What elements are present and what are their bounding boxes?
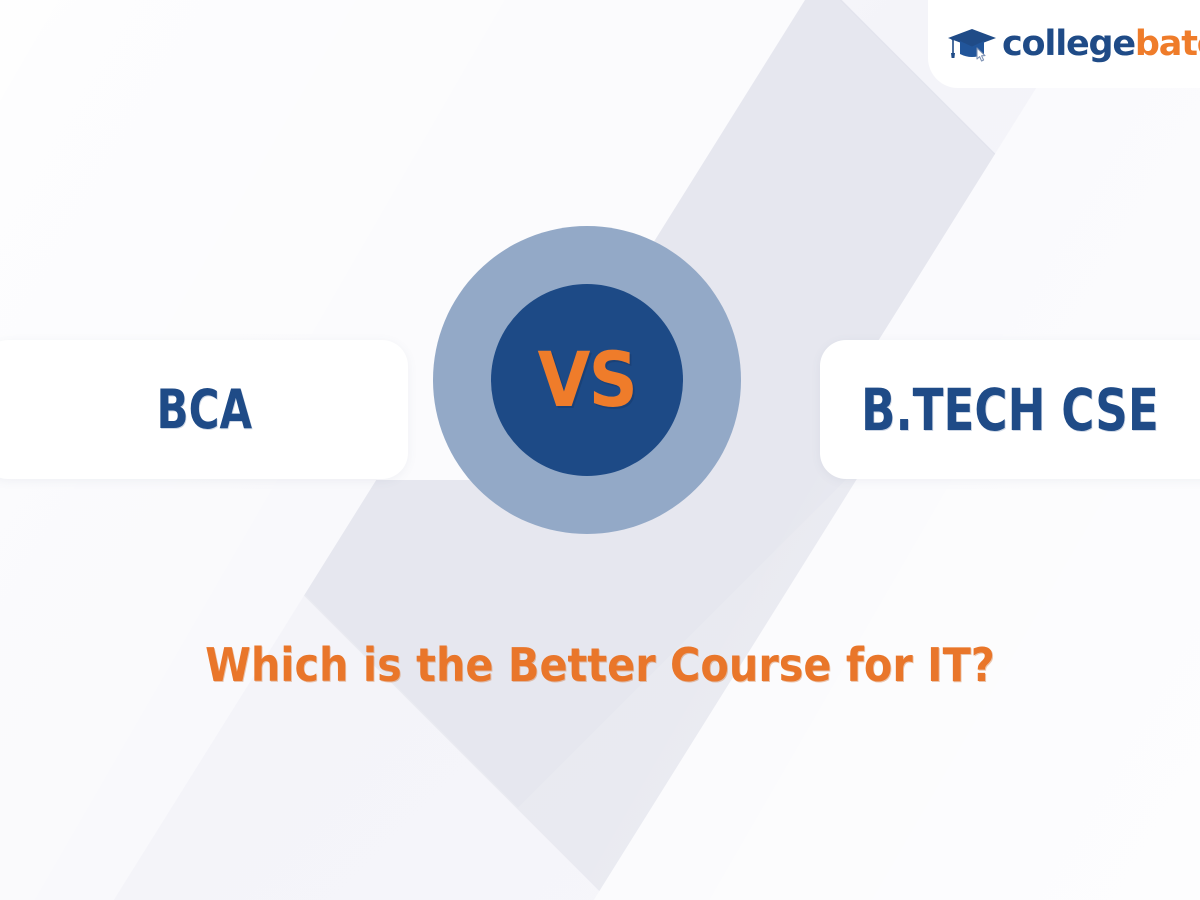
comparison-banner: collegebatc BCA VS B.TECH CSE Which is t… xyxy=(0,0,1200,900)
tagline-text: Which is the Better Course for IT? xyxy=(60,638,1140,692)
course-label-bca: BCA xyxy=(156,378,252,441)
logo-wordmark: collegebatc xyxy=(1002,27,1200,62)
logo-badge[interactable]: collegebatc xyxy=(928,0,1200,88)
course-card-left[interactable]: BCA xyxy=(0,340,408,479)
logo-word-primary: college xyxy=(1002,24,1135,64)
versus-inner-circle: VS xyxy=(491,284,683,476)
graduation-cap-icon xyxy=(946,24,998,64)
logo-word-secondary: batc xyxy=(1135,24,1200,64)
course-card-right[interactable]: B.TECH CSE xyxy=(820,340,1200,479)
versus-label: VS xyxy=(538,342,637,418)
course-label-btech-cse: B.TECH CSE xyxy=(861,376,1159,444)
